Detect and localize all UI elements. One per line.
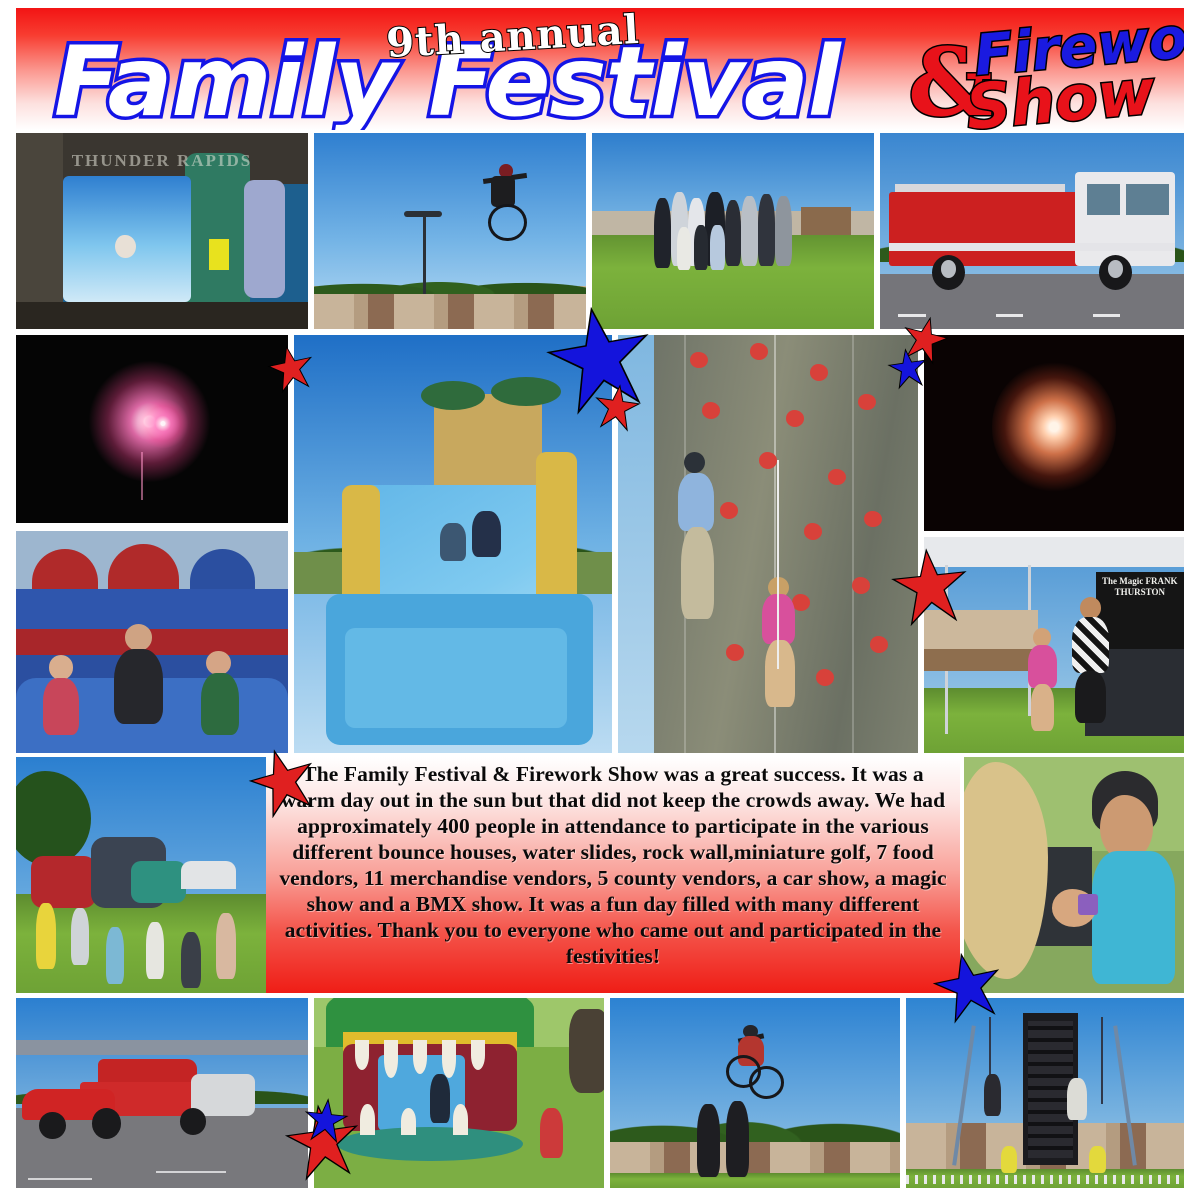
photo-bmx-jump-air xyxy=(314,133,586,329)
photo-waterslide-thunder-rapids: THUNDER RAPIDS xyxy=(16,133,308,329)
banner-subtitle-show: Show xyxy=(964,60,1158,130)
summary-panel: The Family Festival & Firework Show was … xyxy=(266,757,960,993)
photo-classic-car-show xyxy=(16,998,308,1188)
photo-shark-mouth-bounce-slide xyxy=(314,998,604,1188)
summary-text: The Family Festival & Firework Show was … xyxy=(266,757,960,969)
photo-bmx-wheelie-officers xyxy=(610,998,900,1188)
photo-fireworks-pink-burst xyxy=(16,335,288,523)
photo-bounce-house-water-guns xyxy=(16,531,288,753)
photo-karate-group-photo xyxy=(592,133,874,329)
photo-festival-crowd-bounce-houses xyxy=(16,757,266,993)
photo-temporary-tattoo-booth xyxy=(964,757,1184,993)
photo-bungee-trampoline-tower xyxy=(906,998,1184,1188)
photo-big-water-slide-pool xyxy=(294,335,612,753)
photo-fireworks-red-white-burst xyxy=(924,335,1184,531)
photo-rock-climbing-wall xyxy=(618,335,918,753)
photo-magic-show-frank-thurston: The Magic FRANK THURSTON xyxy=(924,537,1184,753)
photo-overlay-thunder-rapids: THUNDER RAPIDS xyxy=(54,151,270,171)
festival-scrapbook-page: Family Festival 9th annual & Firework Sh… xyxy=(0,0,1200,1200)
page-banner: Family Festival 9th annual & Firework Sh… xyxy=(16,8,1184,130)
photo-overlay-magic-banner: The Magic FRANK THURSTON xyxy=(1098,576,1181,598)
photo-fire-truck xyxy=(880,133,1184,329)
